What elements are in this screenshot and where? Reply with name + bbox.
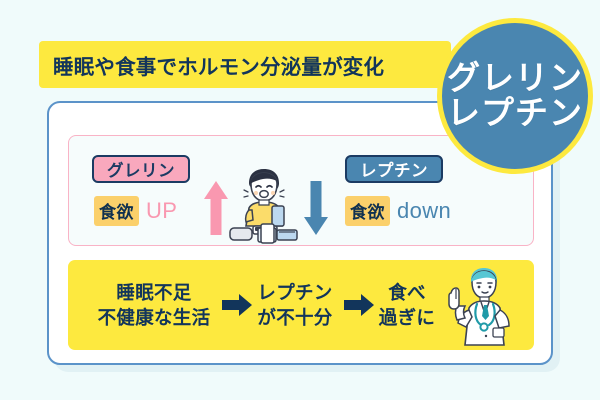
badge-line-2: レプチン bbox=[447, 96, 583, 131]
leptin-appetite-row: 食欲 down bbox=[345, 196, 451, 226]
headline-banner: 睡眠や食事でホルモン分泌量が変化 bbox=[39, 41, 451, 88]
flow-step-2: レプチン が不十分 bbox=[245, 281, 345, 330]
arrow-down-icon bbox=[303, 180, 329, 241]
ghrelin-chip: グレリン bbox=[92, 155, 190, 183]
flow-step-1-line2: 不健康な生活 bbox=[88, 306, 220, 331]
flow-step-3-line1: 食べ bbox=[372, 281, 442, 306]
flow-step-3: 食べ 過ぎに bbox=[372, 281, 442, 330]
ghrelin-appetite-row: 食欲 UP bbox=[94, 196, 177, 226]
leptin-appetite-value: down bbox=[397, 198, 451, 224]
leptin-appetite-tag: 食欲 bbox=[345, 196, 390, 226]
boy-eating-illustration bbox=[227, 166, 301, 249]
ghrelin-appetite-value: UP bbox=[146, 198, 177, 224]
hormone-names-badge: グレリン レプチン bbox=[437, 18, 593, 174]
flow-step-3-line2: 過ぎに bbox=[372, 306, 442, 331]
flow-step-1: 睡眠不足 不健康な生活 bbox=[88, 281, 220, 330]
leptin-chip: レプチン bbox=[345, 155, 443, 183]
doctor-illustration bbox=[443, 266, 519, 351]
flow-step-1-line1: 睡眠不足 bbox=[88, 281, 220, 306]
flow-step-2-line1: レプチン bbox=[245, 281, 345, 306]
flow-step-2-line2: が不十分 bbox=[245, 306, 345, 331]
ghrelin-appetite-tag: 食欲 bbox=[94, 196, 139, 226]
flow-arrow-right-icon-2 bbox=[344, 294, 374, 321]
headline-text: 睡眠や食事でホルモン分泌量が変化 bbox=[39, 50, 384, 80]
badge-line-1: グレリン bbox=[447, 61, 583, 96]
arrow-up-icon bbox=[203, 180, 229, 241]
infographic-canvas: 睡眠や食事でホルモン分泌量が変化 グレリン 食欲 UP bbox=[0, 0, 600, 400]
